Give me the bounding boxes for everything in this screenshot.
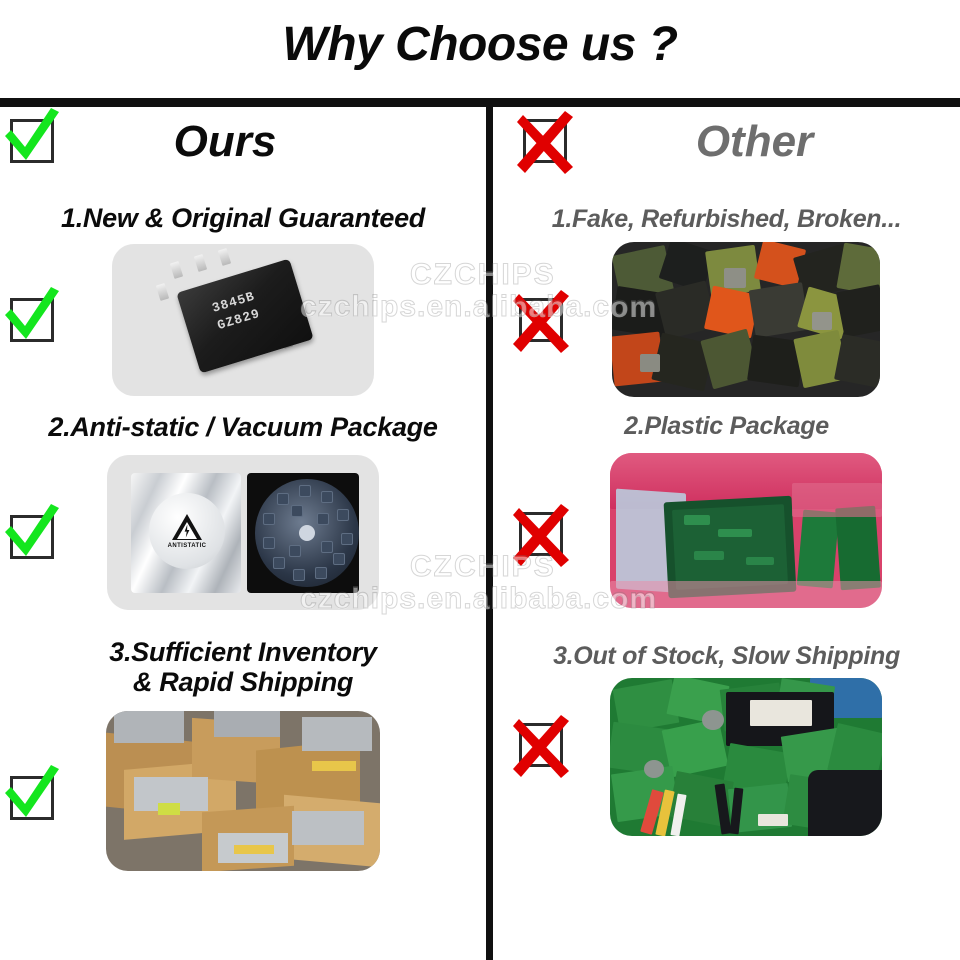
feature-title: 3.Out of Stock, Slow Shipping [493,620,960,671]
cross-icon [519,723,563,767]
feature-title: 1.New & Original Guaranteed [0,185,486,234]
photo-pcbs-in-plastic-bags [610,453,882,608]
page-title-bar: Why Choose us ? [0,0,960,98]
check-icon [10,515,54,559]
feature-ours-2: 2.Anti-static / Vacuum Package ANTISTATI… [0,406,486,623]
cross-icon [519,512,563,556]
feature-other-2: 2.Plastic Package [493,406,960,621]
vertical-divider [486,107,493,960]
column-other: Other 1.Fake, Refurbished, Broken... [493,107,960,960]
feature-title: 3.Sufficient Inventory [0,623,486,668]
check-icon [10,119,54,163]
column-ours: Ours 1.New & Original Guaranteed 3845B [0,107,486,960]
column-label-other: Other [696,120,813,164]
photo-antistatic-bag-and-reel: ANTISTATIC [107,455,379,610]
feature-other-3: 3.Out of Stock, Slow Shipping [493,620,960,857]
feature-title: 2.Plastic Package [493,406,960,441]
photo-green-pcb-scrap [610,678,882,836]
feature-title: 1.Fake, Refurbished, Broken... [493,185,960,234]
feature-other-1: 1.Fake, Refurbished, Broken... [493,185,960,406]
column-header-ours: Ours [0,107,486,185]
check-icon [10,776,54,820]
component-reel [247,473,359,593]
antistatic-label: ANTISTATIC [168,543,207,549]
check-icon [10,298,54,342]
column-header-other: Other [493,107,960,185]
cross-icon [519,298,563,342]
photo-scrap-chip-pile [612,242,880,397]
feature-title-line2: & Rapid Shipping [0,667,486,698]
feature-ours-3: 3.Sufficient Inventory & Rapid Shipping [0,623,486,885]
feature-title: 2.Anti-static / Vacuum Package [0,406,486,443]
horizontal-divider [0,98,960,107]
column-label-ours: Ours [174,120,277,164]
cross-icon [523,119,567,163]
photo-cartons-of-reels [106,711,380,871]
feature-ours-1: 1.New & Original Guaranteed 3845B GZ829 [0,185,486,406]
page-title: Why Choose us ? [282,21,677,69]
esd-warning-icon [172,514,202,540]
photo-sop8-chip: 3845B GZ829 [112,244,374,396]
antistatic-bag: ANTISTATIC [131,473,241,593]
